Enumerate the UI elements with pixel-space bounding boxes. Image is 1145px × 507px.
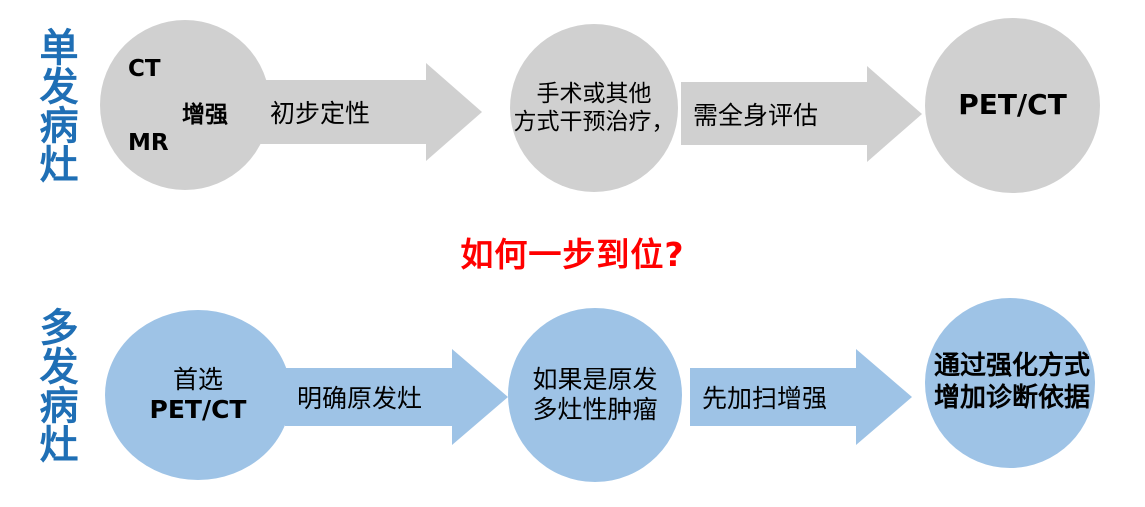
arrow-head-icon: [867, 66, 922, 162]
arrow-whole-body-evaluation[interactable]: 需全身评估: [681, 82, 922, 145]
node-first-choice-line2: PET/CT: [150, 395, 247, 424]
node-petct[interactable]: PET/CT: [925, 18, 1100, 193]
node-mr-label: MR: [128, 130, 169, 156]
arrow-shaft: 初步定性: [258, 80, 426, 144]
node-enhanced-basis-text: 通过强化方式 增加诊断依据: [934, 351, 1090, 414]
node-surgery-line2: 方式干预治疗，: [514, 109, 675, 135]
node-enhanced-basis-line2: 增加诊断依据: [934, 383, 1090, 413]
arrow-head-icon: [856, 349, 912, 445]
arrow-label-initial-qualitative: 初步定性: [258, 94, 370, 130]
arrow-head-icon: [452, 349, 508, 445]
node-first-choice-line1: 首选: [173, 365, 223, 394]
node-ct-label: CT: [128, 56, 161, 82]
arrow-shaft: 需全身评估: [681, 82, 867, 145]
node-multifocal-line1: 如果是原发: [532, 365, 657, 394]
node-first-choice-petct[interactable]: 首选 PET/CT: [105, 310, 291, 480]
arrow-label-identify-primary-lesion: 明确原发灶: [285, 379, 422, 415]
node-multifocal-line2: 多灶性肿瘤: [532, 395, 657, 424]
arrow-shaft: 明确原发灶: [285, 368, 452, 426]
node-enhanced-basis-line1: 通过强化方式: [934, 351, 1090, 381]
callout-question: 如何一步到位?: [0, 228, 1145, 276]
node-surgery-intervention[interactable]: 手术或其他 方式干预治疗，: [510, 24, 678, 192]
arrow-initial-qualitative[interactable]: 初步定性: [258, 80, 482, 144]
node-enhanced-diagnostic-basis[interactable]: 通过强化方式 增加诊断依据: [925, 298, 1095, 468]
node-petct-text: PET/CT: [958, 88, 1067, 122]
row-label-single-lesion: 单发病灶: [36, 27, 75, 183]
flowchart-canvas: 单发病灶 CT MR 增强 初步定性 手术或其他 方式干预治疗， 需全身评估 P…: [0, 0, 1145, 507]
arrow-head-icon: [426, 63, 482, 161]
row-label-multiple-lesion: 多发病灶: [36, 307, 75, 463]
arrow-add-enhanced-scan[interactable]: 先加扫增强: [690, 368, 912, 426]
node-surgery-line1: 手术或其他: [537, 81, 652, 107]
node-primary-multifocal-tumor[interactable]: 如果是原发 多灶性肿瘤: [508, 308, 682, 482]
node-multifocal-text: 如果是原发 多灶性肿瘤: [532, 365, 657, 426]
node-first-choice-text: 首选 PET/CT: [150, 365, 247, 426]
arrow-shaft: 先加扫增强: [690, 368, 856, 426]
arrow-label-add-enhanced-scan: 先加扫增强: [690, 379, 827, 415]
node-ct-mr-enhance[interactable]: CT MR 增强: [100, 20, 270, 190]
node-surgery-text: 手术或其他 方式干预治疗，: [514, 80, 675, 136]
arrow-label-whole-body-evaluation: 需全身评估: [681, 96, 818, 132]
arrow-identify-primary-lesion[interactable]: 明确原发灶: [285, 368, 508, 426]
node-enhance-label: 增强: [182, 95, 228, 129]
